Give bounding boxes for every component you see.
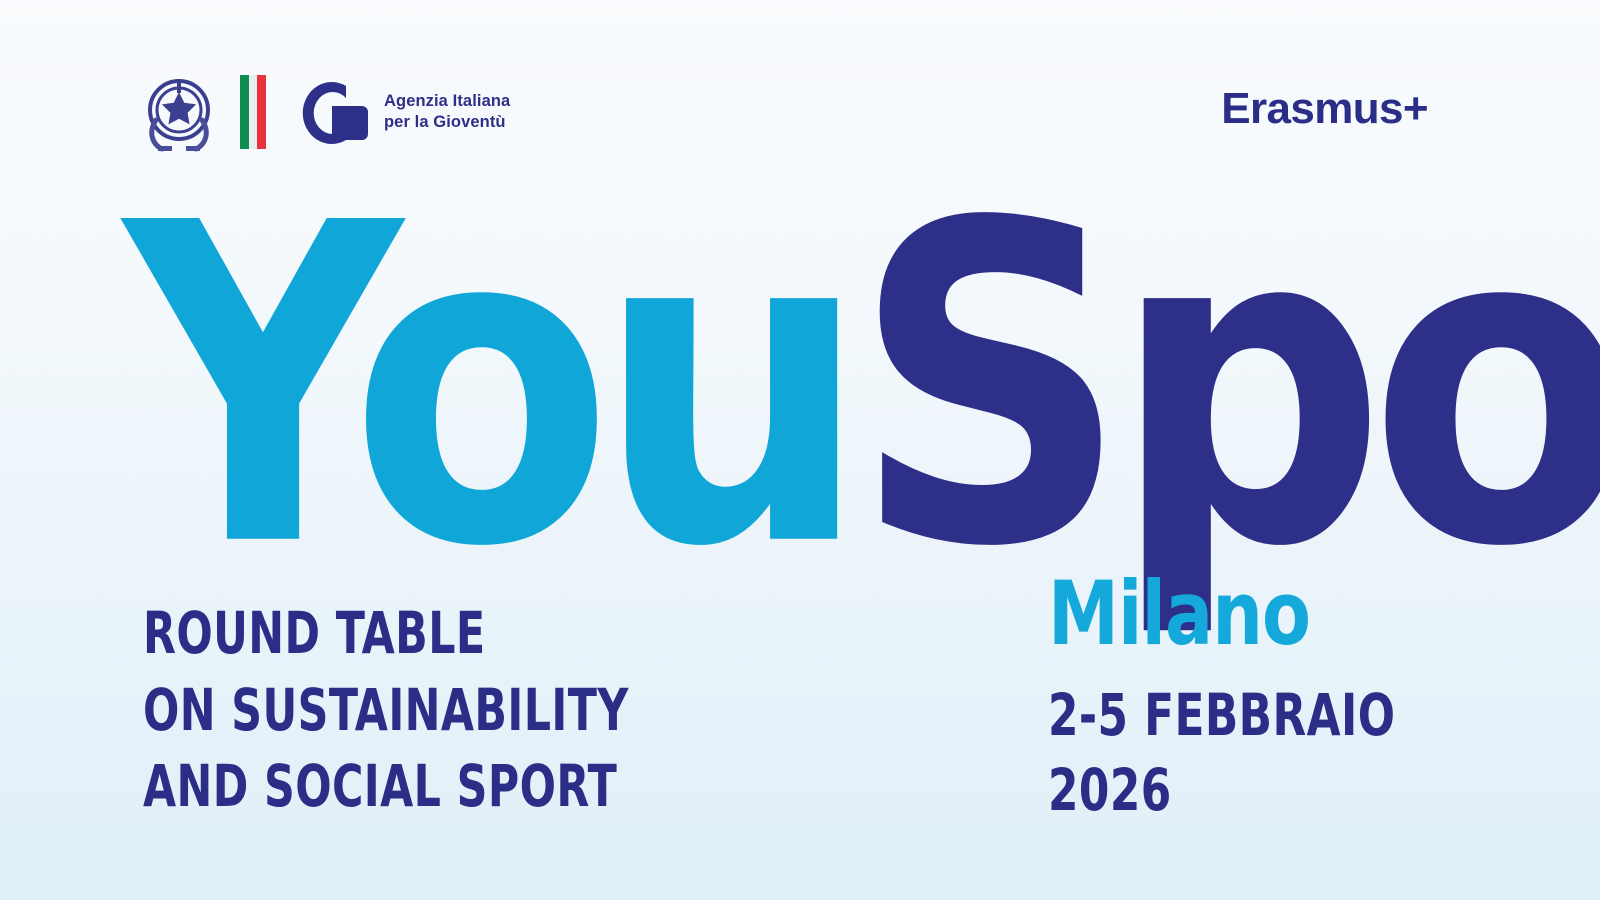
yousport-wordmark: YouSport bbox=[124, 168, 1600, 608]
erasmus-plus-label: Erasmus+ bbox=[1221, 84, 1428, 134]
event-city: Milano bbox=[1048, 570, 1420, 658]
event-subtitle: ROUND TABLE ON SUSTAINABILITY AND SOCIAL… bbox=[143, 595, 629, 825]
agency-name-label: Agenzia Italiana per la Gioventù bbox=[384, 91, 510, 134]
subtitle-line-3: AND SOCIAL SPORT bbox=[143, 748, 629, 825]
event-dates: 2-5 FEBBRAIO 2026 bbox=[1048, 678, 1395, 829]
wordmark-you: You bbox=[124, 132, 852, 644]
event-details: Milano 2-5 FEBBRAIO 2026 bbox=[1048, 570, 1462, 829]
event-date-range: 2-5 FEBBRAIO bbox=[1048, 678, 1395, 753]
event-year: 2026 bbox=[1048, 753, 1395, 828]
subtitle-line-1: ROUND TABLE bbox=[143, 595, 629, 672]
subtitle-line-2: ON SUSTAINABILITY bbox=[143, 672, 629, 749]
